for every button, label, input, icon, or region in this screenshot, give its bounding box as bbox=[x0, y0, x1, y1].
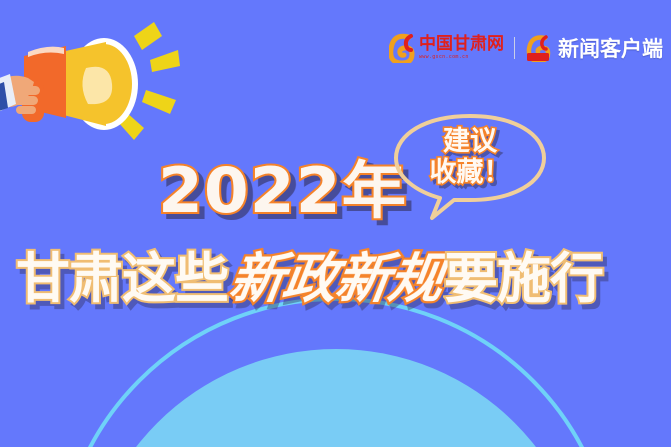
bubble-text: 建议 收藏！ bbox=[392, 126, 548, 188]
headline-part-2: 新政新规 bbox=[226, 248, 447, 310]
outer-ring-arc bbox=[56, 297, 616, 447]
gansu-net-swoosh-icon bbox=[389, 33, 415, 63]
headline: 甘肃这些 新政新规 要施行 bbox=[16, 248, 603, 310]
headline-part-1: 甘肃这些 bbox=[16, 248, 228, 310]
site-url: www.gscn.com.cn bbox=[419, 55, 504, 60]
gansu-net-logo[interactable]: 中国甘肃网 www.gscn.com.cn bbox=[389, 33, 504, 63]
year-title: 2022年 bbox=[158, 140, 407, 230]
logo-divider bbox=[514, 37, 515, 59]
headline-part-3: 要施行 bbox=[444, 248, 603, 310]
bottom-scene bbox=[0, 287, 671, 447]
xibeijiao-badge-icon bbox=[525, 34, 551, 62]
site-name: 中国甘肃网 bbox=[419, 36, 504, 53]
gansu-net-logo-text: 中国甘肃网 www.gscn.com.cn bbox=[419, 36, 504, 60]
light-blue-dome bbox=[83, 349, 589, 447]
logo-bar: 中国甘肃网 www.gscn.com.cn 新闻客户端 bbox=[389, 28, 663, 68]
app-name: 新闻客户端 bbox=[558, 33, 663, 63]
megaphone-icon bbox=[0, 8, 180, 148]
bubble-line-1: 建议 bbox=[392, 126, 548, 157]
bubble-line-2: 收藏！ bbox=[392, 157, 548, 188]
poster-canvas: 中国甘肃网 www.gscn.com.cn 新闻客户端 2022年 建议 收藏！… bbox=[0, 0, 671, 447]
speech-bubble: 建议 收藏！ bbox=[392, 112, 548, 222]
